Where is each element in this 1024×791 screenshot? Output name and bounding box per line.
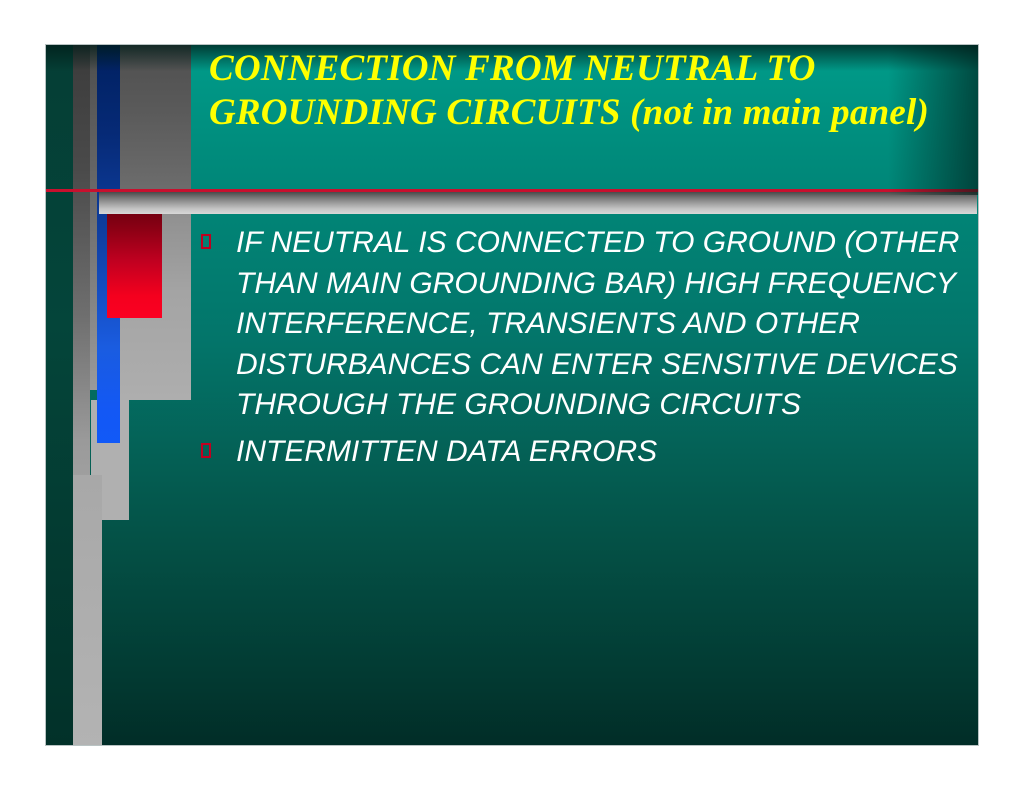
decor-grey-dark-column <box>73 45 90 540</box>
decor-grey-stripe <box>73 475 102 745</box>
title-divider-bar <box>99 192 977 214</box>
bullet-text: INTERMITTEN DATA ERRORS <box>236 432 961 473</box>
decor-red-box <box>107 208 162 318</box>
bullet-marker-icon <box>201 443 211 458</box>
decor-grey-panel-top <box>120 45 191 192</box>
slide-title: CONNECTION FROM NEUTRAL TO GROUNDING CIR… <box>209 47 949 135</box>
slide-body: IF NEUTRAL IS CONNECTED TO GROUND (OTHER… <box>201 223 961 478</box>
bullet-item: INTERMITTEN DATA ERRORS <box>201 432 961 473</box>
bullet-text: IF NEUTRAL IS CONNECTED TO GROUND (OTHER… <box>236 223 961 426</box>
presentation-slide: CONNECTION FROM NEUTRAL TO GROUNDING CIR… <box>46 45 978 745</box>
bullet-item: IF NEUTRAL IS CONNECTED TO GROUND (OTHER… <box>201 223 961 426</box>
bullet-marker-icon <box>201 234 211 249</box>
decor-dark-teal-edge <box>46 45 73 745</box>
